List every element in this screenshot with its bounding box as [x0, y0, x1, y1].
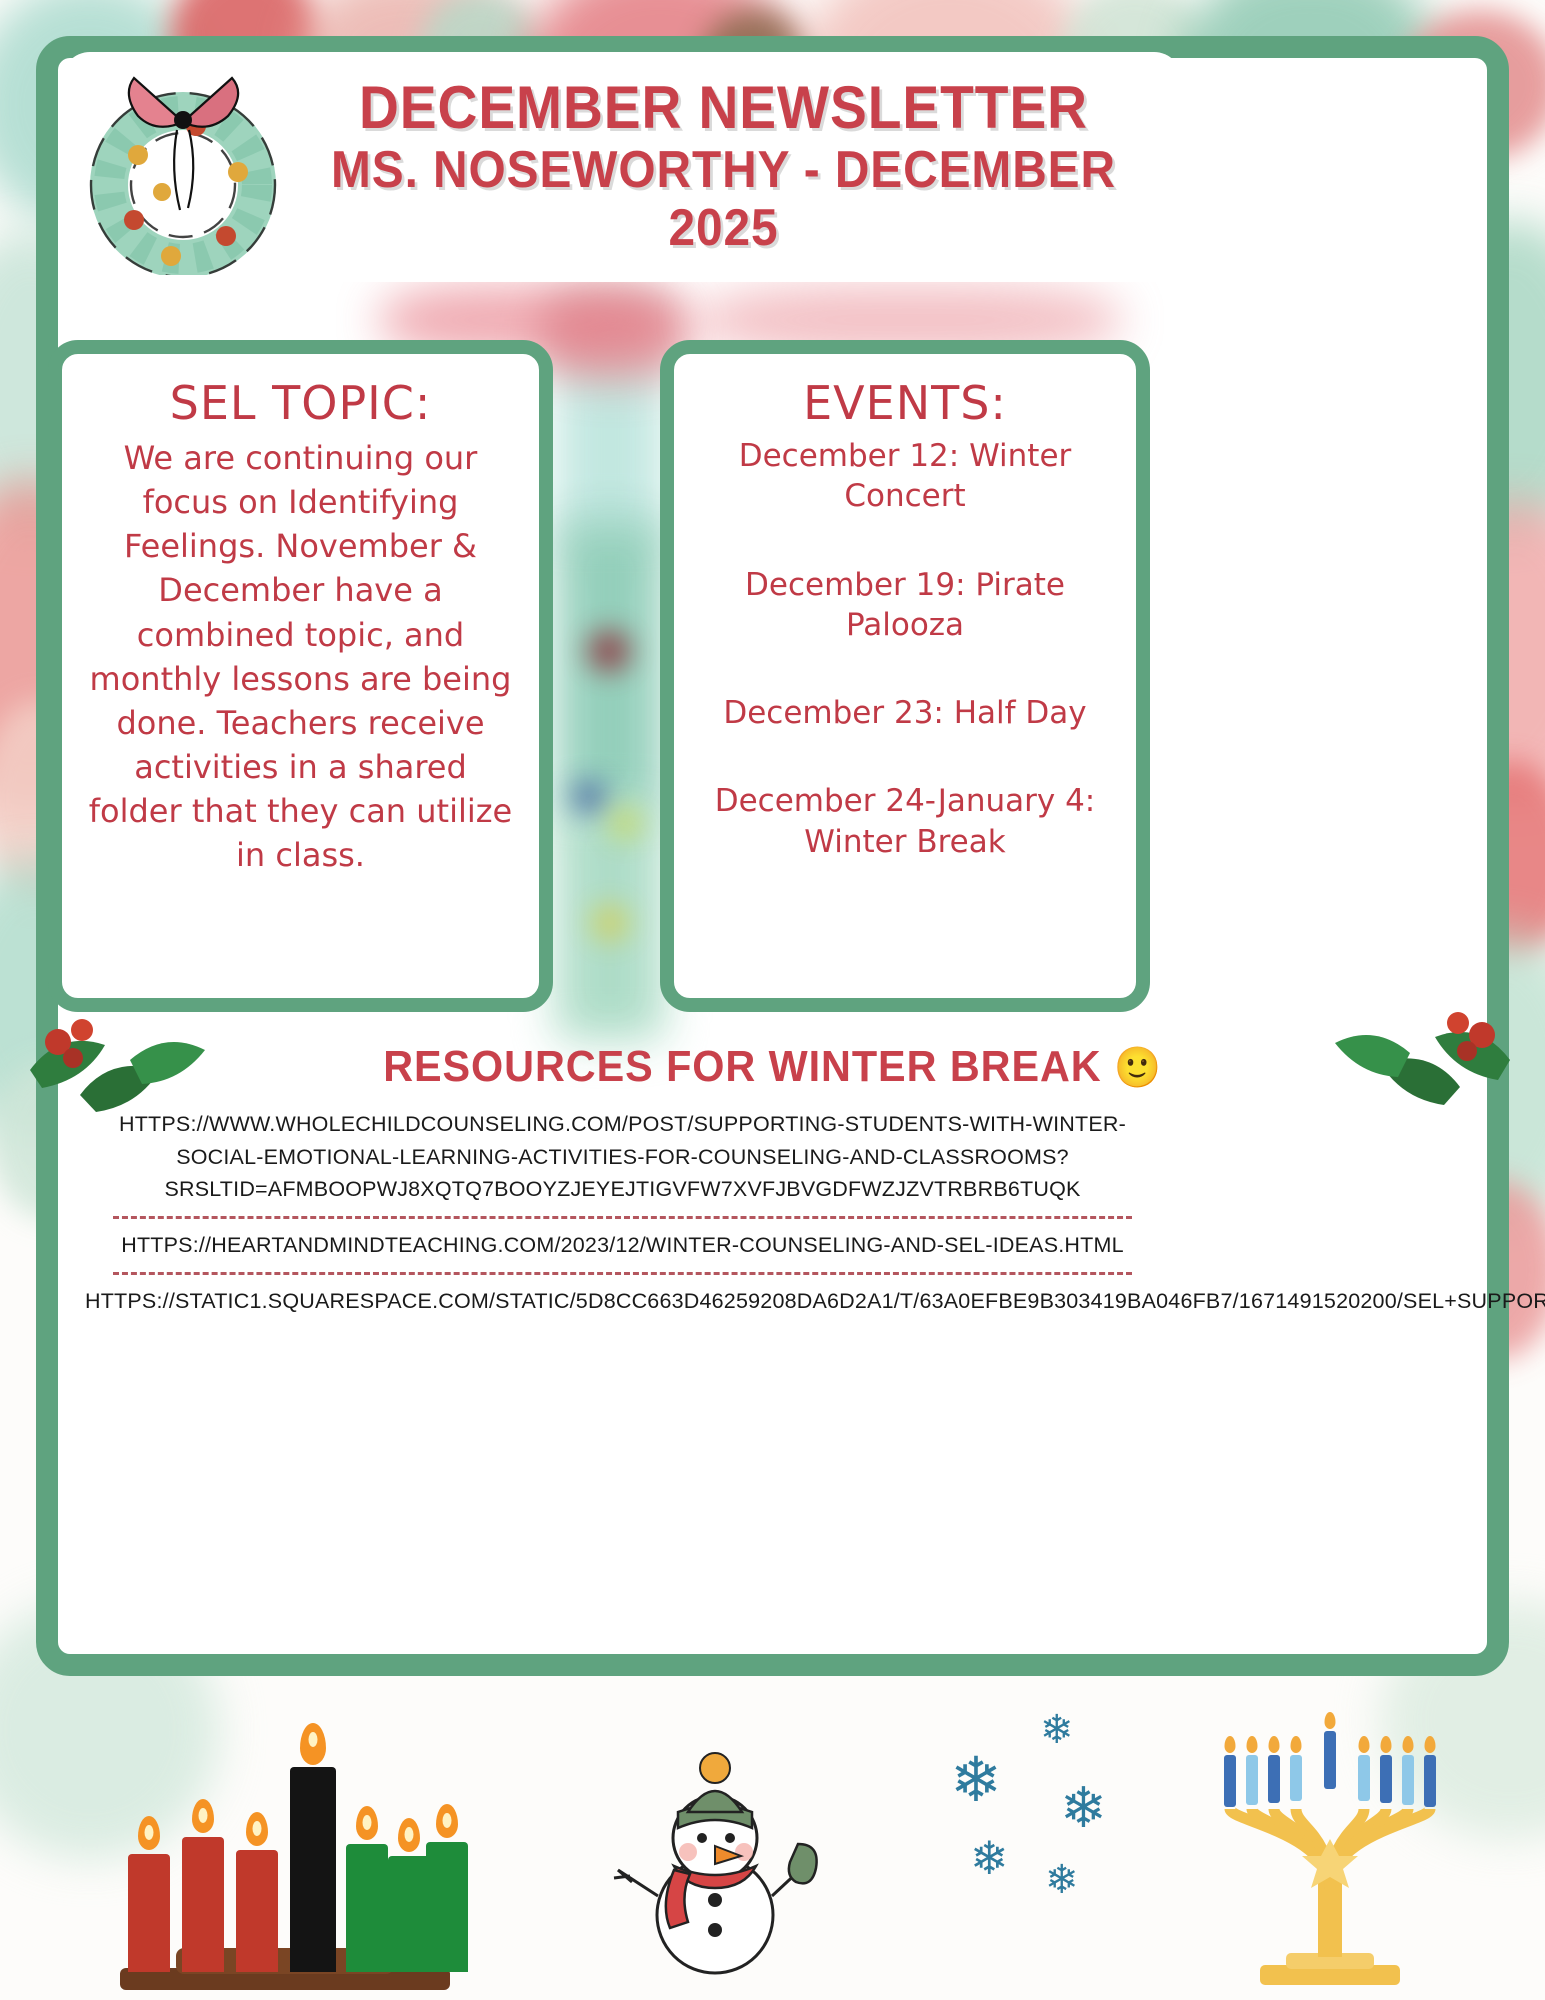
resources-heading: RESOURCES FOR WINTER BREAK 🙂 [46, 1042, 1498, 1092]
event-item: December 12: Winter Concert [696, 436, 1114, 517]
resource-link[interactable]: HTTPS://HEARTANDMINDTEACHING.COM/2023/12… [85, 1229, 1160, 1262]
menorah-icon [1200, 1685, 1460, 1985]
page-title: DECEMBER NEWSLETTER [326, 77, 1122, 138]
resources-heading-text: RESOURCES FOR WINTER BREAK [383, 1042, 1101, 1091]
kwanzaa-kinara-icon [120, 1690, 450, 1990]
events-title: EVENTS: [696, 376, 1114, 430]
sel-topic-body: We are continuing our focus on Identifyi… [84, 436, 517, 878]
page-subtitle: MS. NOSEWORTHY - DECEMBER 2025 [326, 142, 1122, 256]
smiley-face-icon: 🙂 [1114, 1046, 1162, 1090]
resources-link-list: HTTPS://WWW.WHOLECHILDCOUNSELING.COM/POS… [85, 1108, 1160, 1317]
event-item: December 23: Half Day [696, 693, 1114, 733]
snowflakes-icon: ❄ ❄ ❄ ❄ ❄ [940, 1710, 1190, 1960]
event-item: December 24-January 4: Winter Break [696, 781, 1114, 862]
footer-illustrations: ❄ ❄ ❄ ❄ ❄ [0, 1700, 1545, 2000]
holly-decoration-right [1300, 995, 1530, 1130]
events-panel: EVENTS: December 12: Winter Concert Dece… [660, 340, 1150, 1012]
sel-topic-panel: SEL TOPIC: We are continuing our focus o… [48, 340, 553, 1012]
snowman-icon [600, 1720, 830, 1980]
newsletter-header: DECEMBER NEWSLETTER MS. NOSEWORTHY - DEC… [62, 52, 1182, 282]
link-divider [113, 1216, 1132, 1219]
event-item: December 19: Pirate Palooza [696, 565, 1114, 646]
holly-decoration-left [10, 1000, 240, 1135]
resource-link[interactable]: HTTPS://WWW.WHOLECHILDCOUNSELING.COM/POS… [85, 1108, 1160, 1206]
resource-link[interactable]: HTTPS://STATIC1.SQUARESPACE.COM/STATIC/5… [85, 1285, 1160, 1318]
link-divider [113, 1272, 1132, 1275]
sel-topic-title: SEL TOPIC: [84, 376, 517, 430]
christmas-wreath-icon [76, 60, 291, 275]
